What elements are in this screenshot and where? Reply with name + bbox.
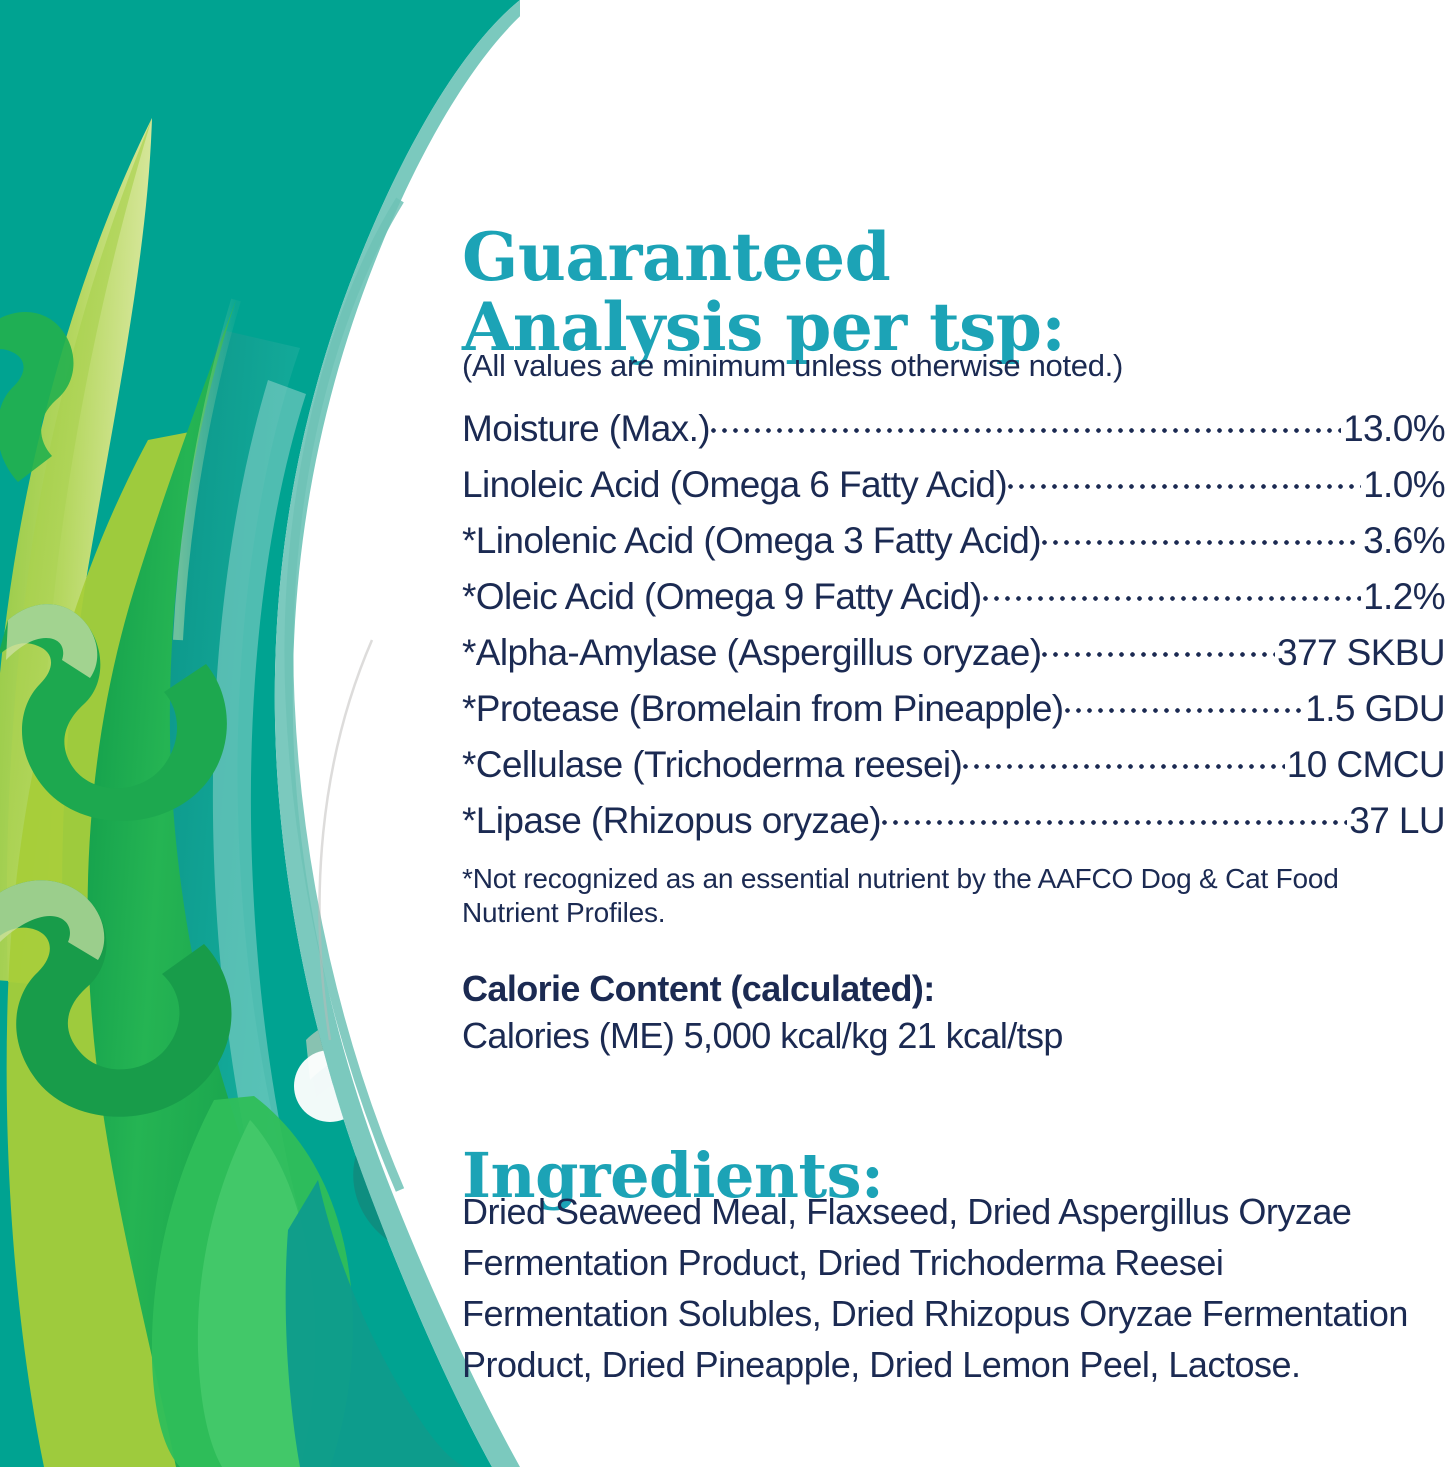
guaranteed-analysis-footnote: *Not recognized as an essential nutrient… bbox=[462, 862, 1422, 930]
teal-panel-shape bbox=[0, 0, 520, 1467]
ga-row: *Alpha-Amylase (Aspergillus oryzae) 377 … bbox=[462, 628, 1445, 684]
product-label-panel: Guaranteed Analysis per tsp: (All values… bbox=[0, 0, 1445, 1467]
guaranteed-analysis-rows: Moisture (Max.) 13.0% Linoleic Acid (Ome… bbox=[462, 404, 1445, 852]
leader-dots bbox=[983, 572, 1362, 609]
ga-row-label: *Alpha-Amylase (Aspergillus oryzae) bbox=[462, 632, 1041, 674]
lime-blade-upper bbox=[0, 118, 152, 985]
ingredients-body: Dried Seaweed Meal, Flaxseed, Dried Aspe… bbox=[462, 1186, 1434, 1390]
ga-row: Linoleic Acid (Omega 6 Fatty Acid) 1.0% bbox=[462, 460, 1445, 516]
guaranteed-analysis-note: (All values are minimum unless otherwise… bbox=[462, 348, 1362, 384]
label-content: Guaranteed Analysis per tsp: (All values… bbox=[462, 0, 1445, 1467]
guaranteed-analysis-title: Guaranteed Analysis per tsp: bbox=[462, 222, 1182, 362]
ga-row-label: *Cellulase (Trichoderma reesei) bbox=[462, 744, 962, 786]
seaweed-fronds-group bbox=[0, 118, 520, 1467]
calorie-content-value: Calories (ME) 5,000 kcal/kg 21 kcal/tsp bbox=[462, 1015, 1063, 1057]
leader-dots bbox=[711, 404, 1341, 441]
leader-dots bbox=[1008, 460, 1361, 497]
ga-row-value: 10 CMCU bbox=[1287, 744, 1445, 786]
ga-row-label: Moisture (Max.) bbox=[462, 408, 710, 450]
green-leaf-lower bbox=[152, 1096, 353, 1467]
ga-row-label: Linoleic Acid (Omega 6 Fatty Acid) bbox=[462, 464, 1007, 506]
ga-row-value: 1.0% bbox=[1363, 464, 1445, 506]
ga-row-value: 1.2% bbox=[1363, 576, 1445, 618]
ga-row: *Protease (Bromelain from Pineapple) 1.5… bbox=[462, 684, 1445, 740]
ga-row-label: *Lipase (Rhizopus oryzae) bbox=[462, 800, 881, 842]
leader-dots bbox=[1042, 628, 1275, 665]
teal-blade bbox=[161, 330, 316, 1280]
leader-dots bbox=[1065, 684, 1304, 721]
leader-dots bbox=[882, 796, 1347, 833]
ga-row-label: *Linolenic Acid (Omega 3 Fatty Acid) bbox=[462, 520, 1041, 562]
ga-row-value: 377 SKBU bbox=[1277, 632, 1445, 674]
lime-blade-lower bbox=[7, 430, 248, 1467]
ga-title-line-1: Guaranteed bbox=[462, 222, 1182, 292]
ga-row: *Oleic Acid (Omega 9 Fatty Acid) 1.2% bbox=[462, 572, 1445, 628]
ga-row-value: 3.6% bbox=[1363, 520, 1445, 562]
ga-row-value: 37 LU bbox=[1349, 800, 1445, 842]
ga-row-value: 1.5 GDU bbox=[1305, 688, 1445, 730]
ga-row: *Linolenic Acid (Omega 3 Fatty Acid) 3.6… bbox=[462, 516, 1445, 572]
ga-row: *Cellulase (Trichoderma reesei) 10 CMCU bbox=[462, 740, 1445, 796]
ga-row: Moisture (Max.) 13.0% bbox=[462, 404, 1445, 460]
leader-dots bbox=[1042, 516, 1361, 553]
ga-row-label: *Protease (Bromelain from Pineapple) bbox=[462, 688, 1064, 730]
frond-lobes-left bbox=[0, 604, 232, 1117]
seaweed-illustration bbox=[0, 0, 520, 1467]
calorie-content-heading: Calorie Content (calculated): bbox=[462, 968, 935, 1010]
ga-row: *Lipase (Rhizopus oryzae) 37 LU bbox=[462, 796, 1445, 852]
ga-row-label: *Oleic Acid (Omega 9 Fatty Acid) bbox=[462, 576, 982, 618]
leader-dots bbox=[963, 740, 1285, 777]
green-frond-main bbox=[88, 300, 300, 1467]
ga-row-value: 13.0% bbox=[1343, 408, 1445, 450]
